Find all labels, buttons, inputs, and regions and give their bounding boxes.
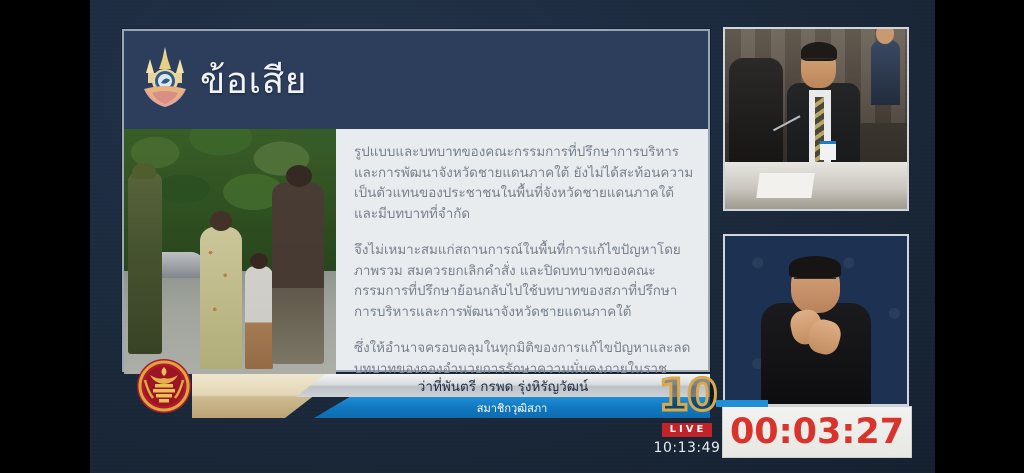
royal-thai-emblem-icon bbox=[136, 43, 194, 117]
speaker-video-feed bbox=[723, 27, 909, 211]
slide-header: ข้อเสีย bbox=[124, 31, 708, 129]
speaker-name-bar: ว่าที่พันตรี กรพด รุ่งหิรัญวัฒน์ bbox=[296, 374, 710, 397]
channel-number: 10 bbox=[651, 375, 723, 417]
letterbox-right bbox=[935, 0, 1024, 473]
photo-soldier bbox=[128, 173, 162, 354]
letterbox-left bbox=[0, 0, 90, 473]
background-person bbox=[871, 40, 900, 105]
slide-body: รูปแบบและบทบาทของคณะกรรมการที่ปรึกษาการบ… bbox=[124, 129, 708, 374]
speaker-id-badge bbox=[820, 141, 836, 160]
live-badge: LIVE bbox=[662, 423, 713, 437]
photo-woman bbox=[200, 227, 242, 369]
countdown-timer: 00:03:27 bbox=[722, 406, 912, 458]
speaker-name: ว่าที่พันตรี กรพด รุ่งหิรัญวัฒน์ bbox=[418, 375, 588, 397]
slide-text-block: รูปแบบและบทบาทของคณะกรรมการที่ปรึกษาการบ… bbox=[336, 129, 708, 374]
slide-photo bbox=[124, 129, 336, 374]
timer-value: 00:03:27 bbox=[730, 415, 904, 450]
channel-bug: 10 LIVE 10:13:49 bbox=[651, 375, 723, 463]
photo-foliage bbox=[124, 129, 336, 271]
speaker-desk bbox=[723, 162, 909, 209]
timer-accent-bar bbox=[716, 400, 768, 407]
slide-paragraph-1: รูปแบบและบทบาทของคณะกรรมการที่ปรึกษาการบ… bbox=[354, 143, 694, 225]
speaker-glasses bbox=[803, 58, 834, 66]
slide-title: ข้อเสีย bbox=[200, 62, 307, 99]
broadcast-screen: ข้อเสีย รูปแบบและบทบาทของคณะกรรมการที่ปร… bbox=[0, 0, 1024, 473]
lower-third-banner: ว่าที่พันตรี กรพด รุ่งหิรัญวัฒน์ สมาชิกว… bbox=[192, 374, 710, 418]
chamber-chair bbox=[729, 58, 784, 177]
presentation-slide: ข้อเสีย รูปแบบและบทบาทของคณะกรรมการที่ปร… bbox=[122, 29, 710, 372]
interpreter-glasses bbox=[794, 278, 836, 287]
broadcast-clock: 10:13:49 bbox=[651, 440, 723, 456]
photo-adult bbox=[272, 183, 324, 364]
interpreter-hair bbox=[789, 256, 842, 278]
thai-parliament-seal-icon bbox=[136, 358, 192, 414]
speaker-role: สมาชิกวุฒิสภา bbox=[477, 399, 548, 417]
desk-papers bbox=[756, 173, 814, 198]
photo-child bbox=[245, 266, 273, 369]
sign-language-interpreter-feed bbox=[723, 234, 909, 406]
photo-parked-car bbox=[145, 252, 205, 278]
slide-paragraph-2: จึงไม่เหมาะสมแก่สถานการณ์ในพื้นที่การแก้… bbox=[354, 241, 694, 323]
